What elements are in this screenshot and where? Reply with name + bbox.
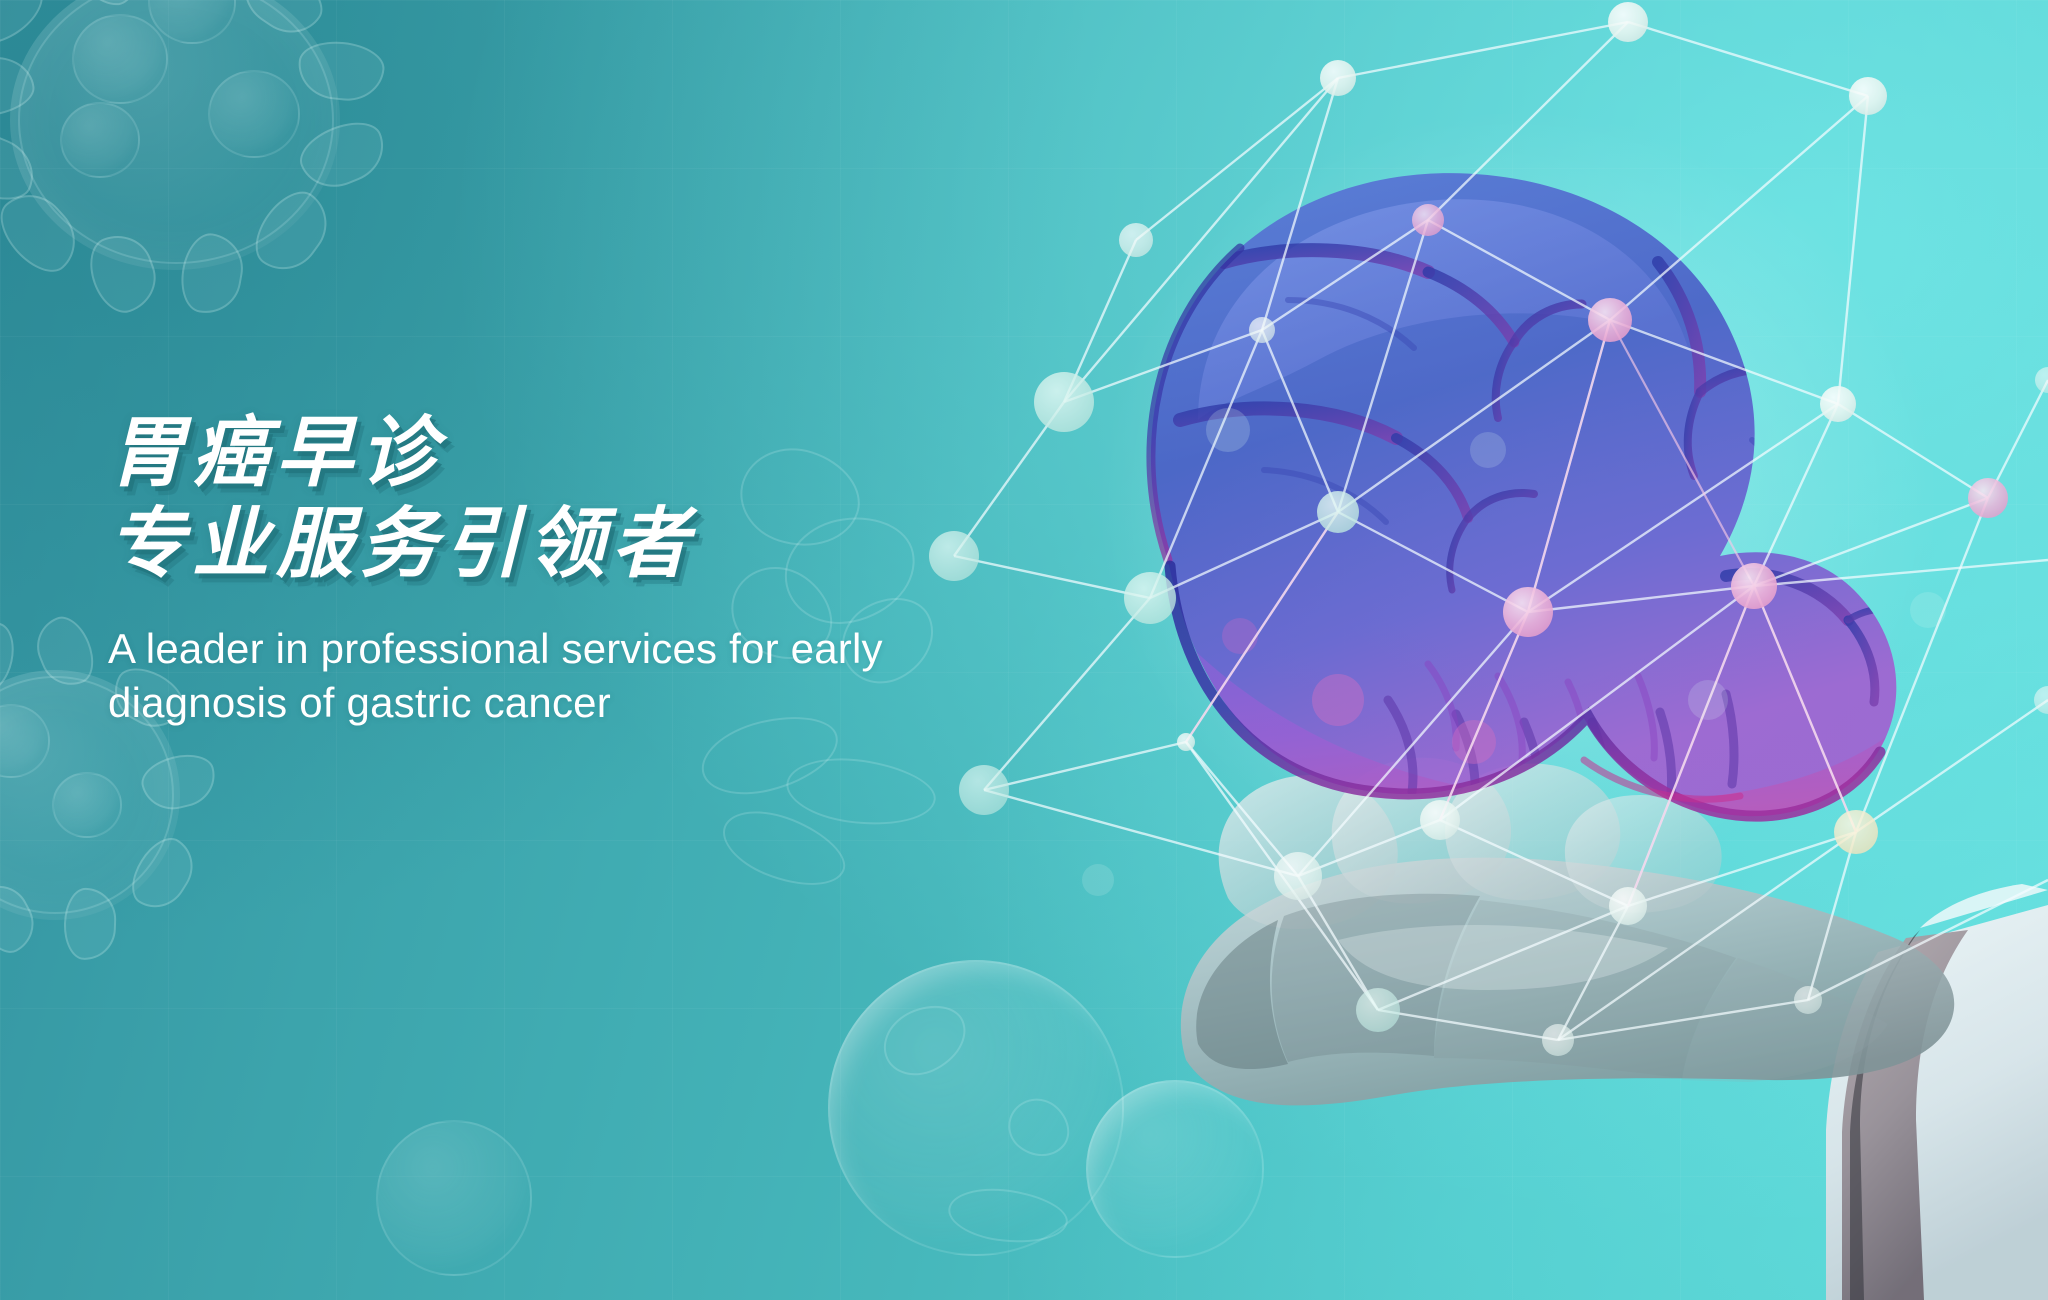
virus-cell-icon: [0, 0, 460, 400]
headline-line-1: 胃癌早诊: [108, 408, 1128, 499]
hero-copy: 胃癌早诊 专业服务引领者 A leader in professional se…: [108, 408, 1128, 731]
subtitle-line-1: A leader in professional services for ea…: [108, 622, 1108, 677]
bubble-cell-icon: [376, 1120, 546, 1290]
bubble-cell-icon: [690, 700, 1010, 960]
bubble-cell-icon: [1086, 1080, 1276, 1270]
stomach-organ-icon: [1128, 173, 1928, 860]
lab-coat-cuff-icon: [1826, 884, 2048, 1300]
open-hand-icon: [1181, 758, 1954, 1106]
subtitle-line-2: diagnosis of gastric cancer: [108, 676, 1108, 731]
bubble-cell-icon: [828, 960, 1148, 1280]
headline-line-2: 专业服务引领者: [108, 499, 1128, 590]
hero-banner: 胃癌早诊 专业服务引领者 A leader in professional se…: [0, 0, 2048, 1300]
subtitle: A leader in professional services for ea…: [108, 622, 1108, 731]
